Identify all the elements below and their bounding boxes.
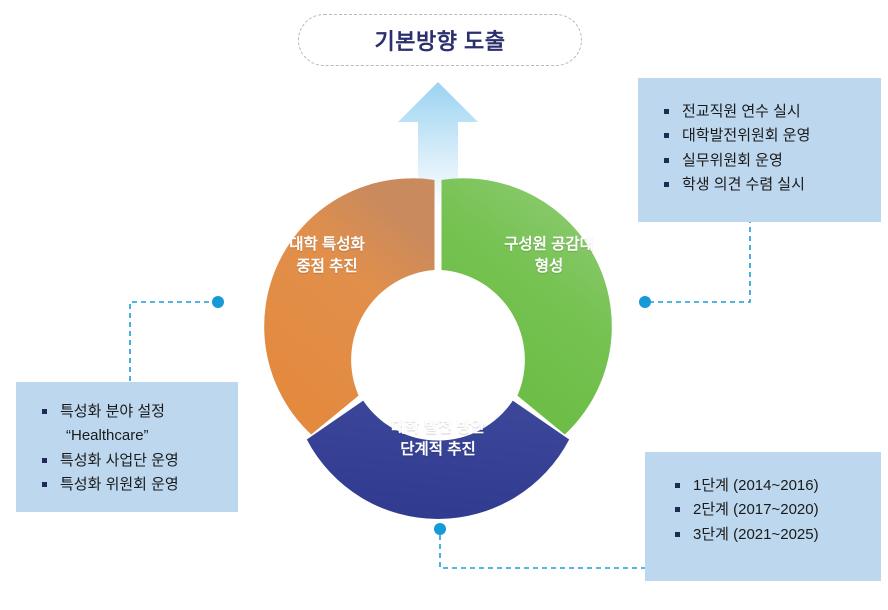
diagram-canvas: 기본방향 도출 대학 특성화 중점 추진 구성원 공감대 형성 대학 발전 방안… [0, 0, 888, 610]
list-item: 특성화 분야 설정 [40, 400, 238, 424]
list-item: 학생 의견 수렴 실시 [662, 173, 881, 197]
square-bullet-icon [42, 482, 47, 487]
list-item-label: 특성화 위원회 운영 [60, 476, 179, 493]
info-box-top-right: 전교직원 연수 실시 대학발전위원회 운영 실무위원회 운영 학생 의견 수렴 … [638, 78, 881, 222]
segment-label-navy-line1: 대학 발전 방안 [363, 417, 513, 439]
list-item-subline: “Healthcare” [40, 424, 238, 448]
info-list-top-right: 전교직원 연수 실시 대학발전위원회 운영 실무위원회 운영 학생 의견 수렴 … [662, 100, 881, 197]
square-bullet-icon [664, 158, 669, 163]
segment-label-orange: 대학 특성화 중점 추진 [252, 234, 402, 279]
square-bullet-icon [664, 133, 669, 138]
list-item-label: 1단계 (2014~2016) [693, 477, 819, 494]
segment-label-green: 구성원 공감대 형성 [474, 234, 624, 279]
list-item-label: 실무위원회 운영 [682, 152, 783, 169]
list-item-label: 2단계 (2017~2020) [693, 501, 819, 518]
main-title-pill: 기본방향 도출 [298, 14, 582, 66]
square-bullet-icon [675, 483, 680, 488]
square-bullet-icon [675, 532, 680, 537]
list-item-label: 전교직원 연수 실시 [682, 103, 801, 120]
segment-label-green-line1: 구성원 공감대 [474, 234, 624, 256]
segment-label-green-line2: 형성 [474, 256, 624, 278]
square-bullet-icon [664, 109, 669, 114]
info-list-left: 특성화 분야 설정 “Healthcare” 특성화 사업단 운영 특성화 위원… [40, 400, 238, 497]
list-item-label: “Healthcare” [66, 427, 149, 444]
info-box-bottom-right: 1단계 (2014~2016) 2단계 (2017~2020) 3단계 (202… [645, 452, 881, 581]
list-item: 1단계 (2014~2016) [673, 474, 881, 498]
segment-label-orange-line2: 중점 추진 [252, 256, 402, 278]
page-title: 기본방향 도출 [374, 24, 505, 56]
list-item: 전교직원 연수 실시 [662, 100, 881, 124]
list-item: 특성화 사업단 운영 [40, 449, 238, 473]
square-bullet-icon [675, 507, 680, 512]
list-item-label: 특성화 분야 설정 [60, 403, 165, 420]
donut-center-hole [383, 273, 493, 383]
list-item-label: 3단계 (2021~2025) [693, 526, 819, 543]
list-item: 대학발전위원회 운영 [662, 124, 881, 148]
list-item: 2단계 (2017~2020) [673, 498, 881, 522]
segment-label-orange-line1: 대학 특성화 [252, 234, 402, 256]
segment-label-navy: 대학 발전 방안 단계적 추진 [363, 417, 513, 462]
list-item: 3단계 (2021~2025) [673, 523, 881, 547]
info-box-left: 특성화 분야 설정 “Healthcare” 특성화 사업단 운영 특성화 위원… [16, 382, 238, 512]
square-bullet-icon [664, 182, 669, 187]
list-item: 실무위원회 운영 [662, 149, 881, 173]
segment-label-navy-line2: 단계적 추진 [363, 439, 513, 461]
list-item: 특성화 위원회 운영 [40, 473, 238, 497]
info-list-bottom-right: 1단계 (2014~2016) 2단계 (2017~2020) 3단계 (202… [673, 474, 881, 547]
list-item-label: 학생 의견 수렴 실시 [682, 176, 805, 193]
square-bullet-icon [42, 409, 47, 414]
list-item-label: 특성화 사업단 운영 [60, 452, 179, 469]
square-bullet-icon [42, 458, 47, 463]
list-item-label: 대학발전위원회 운영 [682, 127, 810, 144]
